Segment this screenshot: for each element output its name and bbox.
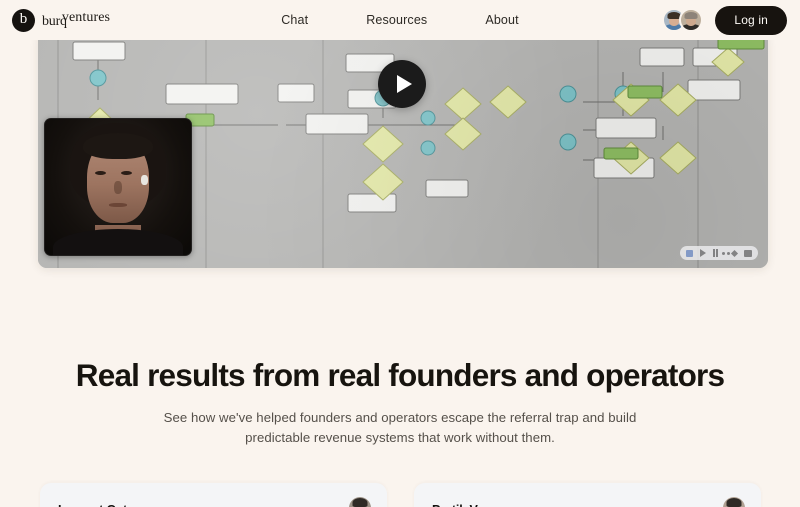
login-button[interactable]: Log in [715,6,787,35]
video-toolbar[interactable] [680,246,758,260]
site-header: b burqventures Chat Resources About [0,0,800,40]
testimonial-name: Pratik Vyas [432,503,498,507]
presenter-webcam [44,118,192,256]
page-subtitle: See how we've helped founders and operat… [150,408,650,449]
record-icon[interactable] [731,249,738,256]
avatar-group [662,8,703,32]
hero-section: Real results from real founders and oper… [0,358,800,449]
header-actions: Log in [662,0,787,40]
testimonial-card[interactable]: Lennart Gates [40,483,387,507]
more-icon[interactable] [722,252,725,255]
avatar [723,497,745,507]
avatar [349,497,371,507]
page-title: Real results from real founders and oper… [0,358,800,393]
testimonial-card[interactable]: Pratik Vyas [414,483,761,507]
play-icon [397,75,412,93]
avatar[interactable] [679,8,703,32]
nav-item-about[interactable]: About [485,13,518,27]
play-button[interactable] [378,60,426,108]
play-icon[interactable] [700,249,706,257]
testimonial-name: Lennart Gates [58,503,141,507]
pause-icon[interactable] [713,249,715,257]
page-root: b burqventures Chat Resources About [0,0,800,507]
testimonial-cards: Lennart Gates Pratik Vyas [40,483,762,507]
fullscreen-icon[interactable] [744,250,752,257]
video-player[interactable] [38,30,768,268]
nav-item-chat[interactable]: Chat [281,13,308,27]
screen-share-icon[interactable] [686,250,693,257]
nav-item-resources[interactable]: Resources [366,13,427,27]
